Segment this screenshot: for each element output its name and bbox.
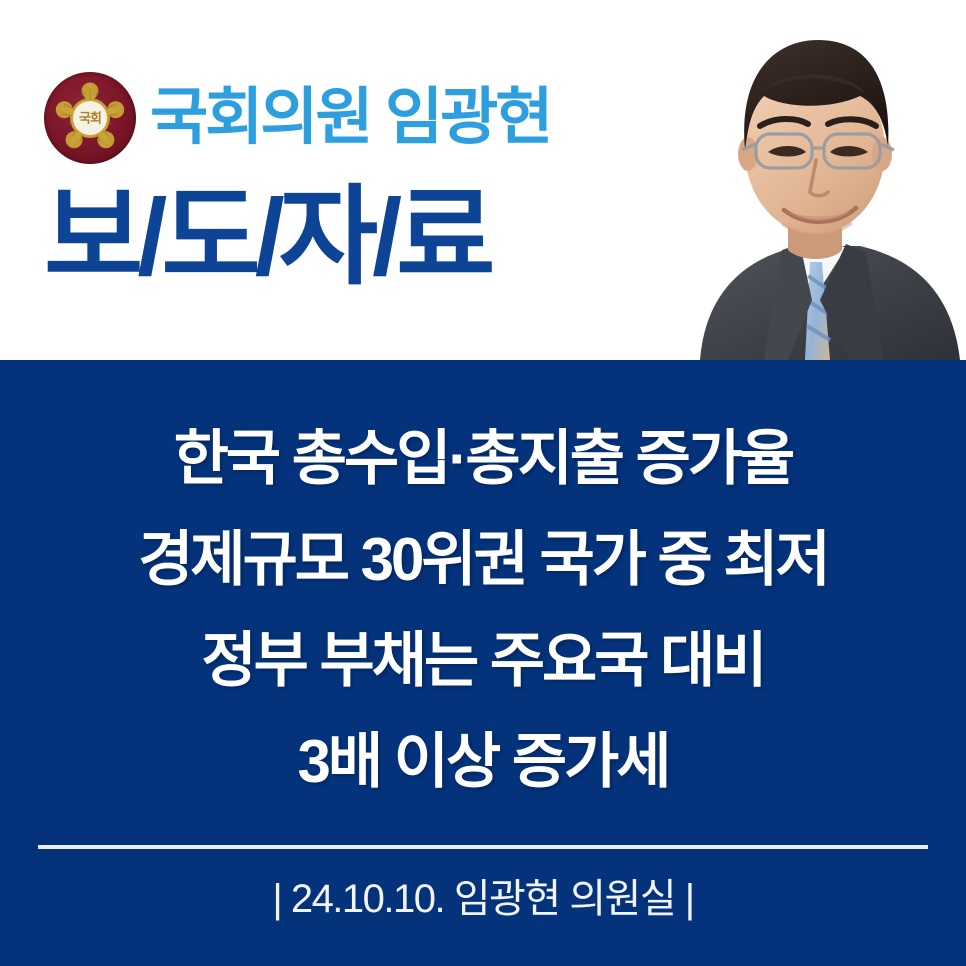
headline-line-4: 3배 이상 증가세	[0, 711, 966, 812]
card-footer: | 24.10.10. 임광현 의원실 |	[0, 875, 966, 923]
press-release-label: 보/도/자/료	[44, 178, 489, 297]
portrait-illustration	[660, 0, 966, 360]
brand-row: 국회 국회의원 임광현	[44, 72, 543, 164]
press-release-card: 국회 국회의원 임광현 보/도/자/료	[0, 0, 966, 966]
headline-block: 한국 총수입·총지출 증가율 경제규모 30위권 국가 중 최저 정부 부채는 …	[0, 408, 966, 812]
national-assembly-emblem-icon: 국회	[44, 72, 136, 164]
card-header: 국회 국회의원 임광현 보/도/자/료	[0, 0, 966, 360]
emblem-center-label: 국회	[79, 112, 101, 125]
brand-title: 국회의원 임광현	[150, 87, 550, 149]
footer-credit-text: | 24.10.10. 임광현 의원실 |	[272, 875, 693, 923]
lawmaker-portrait-photo	[660, 0, 966, 360]
headline-line-1: 한국 총수입·총지출 증가율	[0, 408, 966, 509]
headline-line-3: 정부 부채는 주요국 대비	[0, 610, 966, 711]
headline-line-2: 경제규모 30위권 국가 중 최저	[0, 509, 966, 610]
card-body: 한국 총수입·총지출 증가율 경제규모 30위권 국가 중 최저 정부 부채는 …	[0, 360, 966, 966]
footer-divider	[38, 845, 928, 849]
